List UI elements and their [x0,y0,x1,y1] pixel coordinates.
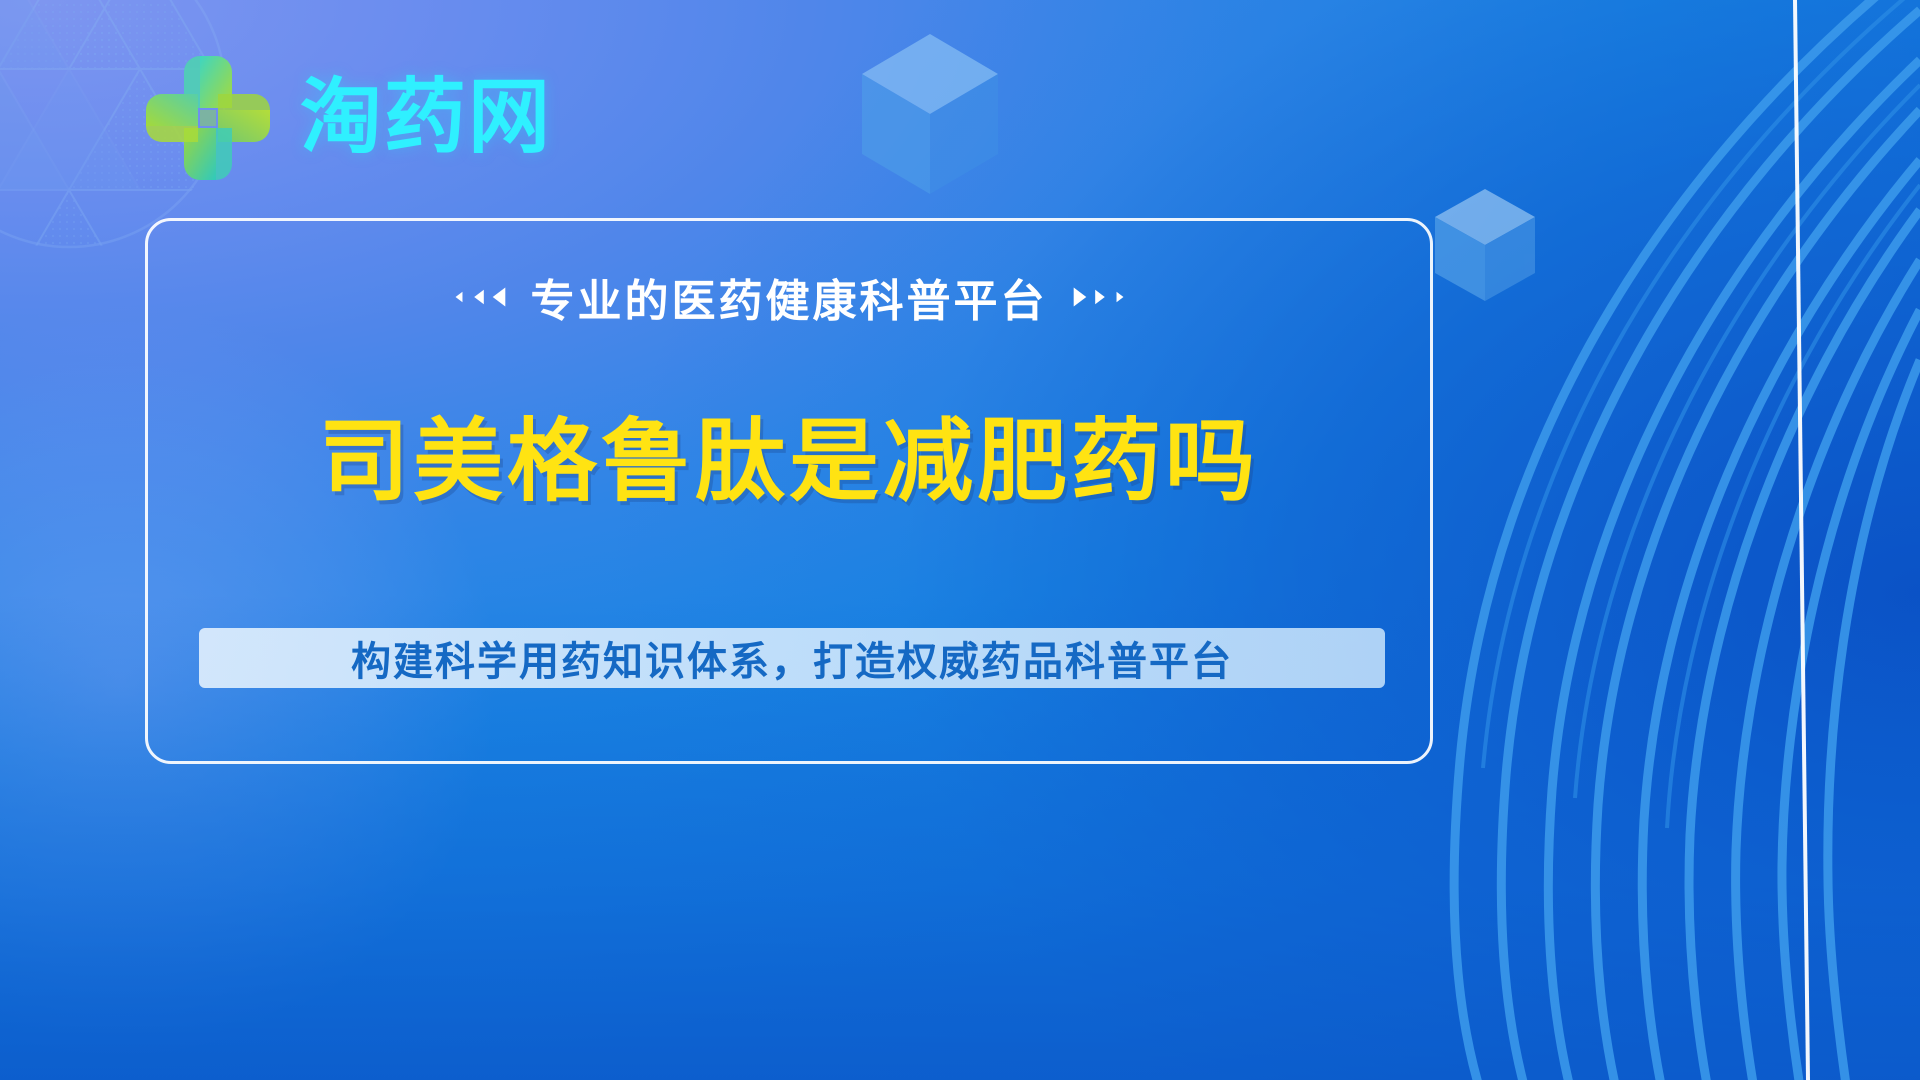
content-card: 专业的医药健康科普平台 司美格鲁肽是减肥药吗 构建科学用药知识体系，打造权威药品… [145,218,1433,764]
brand-logo[interactable]: 淘药网 [142,52,552,184]
left-triangle-icon [449,288,509,306]
right-triangle-icon [1070,288,1130,306]
subtitle-row: 专业的医药健康科普平台 [148,265,1430,329]
brand-name: 淘药网 [300,77,552,159]
subtitle-text: 专业的医药健康科普平台 [531,265,1048,329]
cube-3d-icon [855,28,1005,198]
page-title: 司美格鲁肽是减肥药吗 [148,417,1430,507]
tagline-ribbon: 构建科学用药知识体系，打造权威药品科普平台 [199,628,1385,688]
diamond-3d-icon [1430,185,1540,305]
poster-canvas: 淘药网 专业的医药健康科普平台 司美格鲁肽是减肥药吗 构建科学用药知识体系，打造… [0,0,1920,1080]
tagline-text: 构建科学用药知识体系，打造权威药品科普平台 [351,629,1233,687]
pinwheel-cross-icon [142,52,274,184]
